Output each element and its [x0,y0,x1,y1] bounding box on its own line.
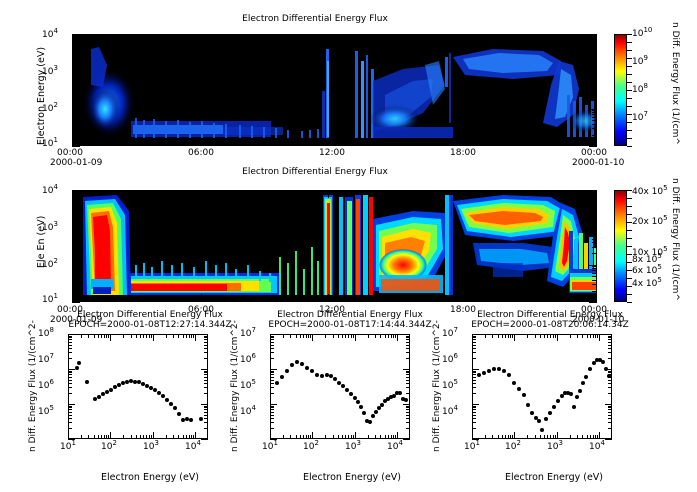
axis-tick [204,336,208,337]
axis-tick [519,34,520,39]
axis-tick [349,141,350,146]
axis-tick [342,435,343,439]
axis-tick [270,371,274,372]
axis-tick [608,339,612,340]
panel1-plot-area[interactable] [72,34,597,146]
axis-tick [627,262,632,263]
axis-tick [406,371,410,372]
axis-tick [353,435,354,439]
axis-tick [345,334,346,338]
axis-tick [505,334,506,338]
axis-tick [270,383,274,384]
axis-tick [592,205,597,206]
axis-tick [68,406,72,407]
axis-tick [72,114,77,115]
axis-tick [472,377,476,378]
axis-tick [72,73,77,74]
axis-tick [403,334,410,335]
axis-tick [283,334,284,338]
axis-tick [592,201,597,202]
axis-tick [328,138,329,146]
axis-tick [550,334,551,338]
axis-tick [81,435,82,439]
axis-tick [204,377,208,378]
axis-tick [472,432,473,439]
axis-tick [393,334,394,338]
axis-tick [541,34,542,39]
axis-tick [498,141,499,146]
panel4-plot-area[interactable] [270,334,410,439]
axis-tick [338,435,339,439]
axis-tick [592,120,597,121]
axis-tick [434,34,435,39]
axis-tick [68,348,72,349]
axis-tick [195,432,196,439]
axis-tick [68,334,69,341]
axis-tick [368,334,369,338]
axis-tick [592,128,597,129]
axis-tick [116,34,117,39]
axis-tick [589,146,597,147]
panel4-xtick-3: 104 [387,442,403,452]
axis-tick [68,404,75,405]
axis-tick [270,334,277,335]
axis-tick [541,141,542,146]
axis-tick [541,297,542,302]
axis-tick [140,435,141,439]
axis-tick [508,435,509,439]
axis-tick [434,297,435,302]
axis-tick [608,407,612,408]
axis-tick [153,432,154,439]
axis-tick [193,435,194,439]
axis-tick [406,407,410,408]
axis-tick [72,270,77,271]
axis-tick [592,247,597,248]
axis-tick [270,439,277,440]
axis-tick [627,214,632,215]
panel1-cbtick-3: 107 [632,113,648,123]
axis-tick [68,422,72,423]
axis-tick [472,439,479,440]
axis-tick [592,198,597,199]
panel2-cbtick-0: 40x 105 [632,187,668,197]
axis-tick [535,435,536,439]
axis-tick [485,334,486,338]
axis-tick [592,236,597,237]
axis-tick [627,278,632,279]
axis-tick [592,91,597,92]
panel5-subtitle: EPOCH=2000-01-08T20:06:14.34Z [440,320,660,330]
axis-tick [333,334,334,338]
panel3-xtick-2: 103 [143,442,159,452]
axis-tick [204,372,208,373]
axis-tick [589,71,597,72]
axis-tick [68,372,72,373]
axis-tick [72,227,80,228]
axis-tick [472,334,479,335]
axis-tick [81,334,82,338]
axis-tick [173,334,174,338]
axis-tick [270,334,271,341]
axis-tick [72,75,77,76]
axis-tick [73,34,74,42]
axis-tick [270,377,274,378]
panel5-ytick-1: 106 [442,355,458,365]
axis-tick [413,190,414,195]
axis-tick [72,110,77,111]
axis-tick [158,141,159,146]
axis-tick [307,297,308,302]
axis-tick [204,345,208,346]
axis-tick [72,120,77,121]
panel5-xlabel: Electron Energy (eV) [474,472,634,483]
axis-tick [68,358,72,359]
axis-tick [395,334,396,338]
axis-tick [477,34,478,39]
axis-tick [406,409,410,410]
axis-tick [627,190,632,191]
axis-tick [201,404,208,405]
axis-tick [72,45,77,46]
axis-tick [555,334,556,338]
axis-tick [403,369,410,370]
axis-tick [300,334,301,338]
axis-tick [592,36,597,37]
axis-tick [325,334,326,338]
axis-tick [204,371,208,372]
axis-tick [286,190,287,195]
axis-tick [472,380,476,381]
axis-tick [270,372,274,373]
panel5-points [473,335,611,438]
axis-tick [472,393,476,394]
axis-tick [587,334,588,338]
axis-tick [472,428,476,429]
axis-tick [397,334,398,341]
axis-tick [204,358,208,359]
axis-tick [371,297,372,302]
axis-tick [592,273,597,274]
axis-tick [325,435,326,439]
axis-tick [204,393,208,394]
axis-tick [222,190,223,195]
axis-tick [131,435,132,439]
axis-tick [406,374,410,375]
axis-tick [498,435,499,439]
axis-tick [375,334,376,338]
axis-tick [608,409,612,410]
axis-tick [72,239,77,240]
panel1-ytick-0: 104 [42,30,58,40]
axis-tick [72,280,77,281]
axis-tick [502,334,503,338]
axis-tick [608,387,612,388]
axis-tick [348,334,349,338]
axis-tick [472,409,476,410]
axis-tick [73,294,74,302]
panel3-ytick-0: 108 [38,329,54,339]
axis-tick [627,66,632,67]
axis-tick [540,435,541,439]
panel3-xlabel: Electron Energy (eV) [70,472,230,483]
axis-tick [307,34,308,39]
axis-tick [406,406,410,407]
axis-tick [608,377,612,378]
axis-tick [310,435,311,439]
axis-tick [406,336,410,337]
axis-tick [406,339,410,340]
axis-tick [627,302,632,303]
axis-tick [204,380,208,381]
axis-tick [583,138,584,146]
axis-tick [555,435,556,439]
axis-tick [498,190,499,195]
axis-tick [592,54,597,55]
axis-tick [270,348,274,349]
axis-tick [312,334,313,341]
axis-tick [592,45,597,46]
axis-tick [338,334,339,338]
axis-tick [595,334,596,338]
panel4-xtick-1: 102 [303,442,319,452]
axis-tick [519,297,520,302]
axis-tick [72,135,77,136]
axis-tick [627,106,632,107]
axis-tick [385,435,386,439]
axis-tick [582,334,583,338]
axis-tick [514,432,515,439]
axis-tick [290,435,291,439]
axis-tick [189,334,190,338]
axis-tick [183,334,184,338]
axis-tick [477,297,478,302]
axis-tick [477,190,478,195]
panel2-plot-area[interactable] [72,190,597,302]
axis-tick [456,294,457,302]
axis-tick [204,352,208,353]
axis-tick [380,435,381,439]
axis-tick [131,334,132,338]
panel1-colorbar[interactable] [614,34,627,146]
axis-tick [544,435,545,439]
axis-tick [472,418,476,419]
axis-tick [189,435,190,439]
axis-tick [270,406,274,407]
axis-tick [589,34,597,35]
axis-tick [204,339,208,340]
panel1-xtick-2: 12:00 [319,148,345,158]
axis-tick [108,435,109,439]
axis-tick [627,254,632,255]
axis-tick [201,138,202,146]
panel5-ylabel: n Diff. Energy Flux (1/(cm^2- [432,320,442,452]
axis-tick [94,141,95,146]
axis-tick [88,334,89,338]
axis-tick [519,141,520,146]
axis-tick [68,418,72,419]
axis-tick [627,230,632,231]
axis-tick [270,418,274,419]
axis-tick [608,406,612,407]
panel5-ytick-2: 105 [442,381,458,391]
axis-tick [355,432,356,439]
axis-tick [283,435,284,439]
axis-tick [608,380,612,381]
axis-tick [527,334,528,338]
panel1-ylabel: Electron Energy (eV) [36,47,47,145]
axis-tick [608,345,612,346]
axis-tick [406,415,410,416]
axis-tick [608,415,612,416]
axis-tick [472,374,476,375]
axis-tick [101,334,102,338]
axis-tick [608,418,612,419]
axis-tick [472,371,476,372]
axis-tick [72,253,77,254]
axis-tick [94,334,95,338]
axis-tick [123,435,124,439]
axis-tick [608,371,612,372]
axis-tick [592,49,597,50]
axis-tick [328,190,329,198]
axis-tick [243,297,244,302]
axis-tick [406,428,410,429]
axis-tick [270,387,274,388]
axis-tick [592,253,597,254]
axis-tick [204,428,208,429]
axis-tick [94,190,95,195]
axis-tick [562,141,563,146]
axis-tick [375,435,376,439]
axis-tick [68,369,75,370]
axis-tick [388,334,389,338]
axis-tick [608,358,612,359]
axis-tick [627,82,632,83]
axis-tick [472,369,479,370]
axis-tick [472,412,476,413]
axis-tick [222,141,223,146]
axis-tick [72,117,77,118]
axis-tick [191,435,192,439]
axis-tick [597,334,598,338]
axis-tick [72,83,77,84]
panel4-xlabel: Electron Energy (eV) [272,472,432,483]
axis-tick [270,407,274,408]
axis-tick [116,190,117,195]
axis-tick [342,334,343,338]
axis-tick [413,141,414,146]
axis-tick [406,352,410,353]
panel2-colorbar[interactable] [614,190,627,302]
axis-tick [72,273,77,274]
axis-tick [472,348,476,349]
panel2-ytick-1: 103 [42,223,58,233]
axis-tick [592,75,597,76]
axis-tick [472,406,476,407]
axis-tick [110,334,111,341]
axis-tick [592,135,597,136]
axis-tick [349,34,350,39]
axis-tick [392,34,393,39]
axis-tick [204,383,208,384]
axis-tick [286,34,287,39]
axis-tick [158,297,159,302]
axis-tick [307,141,308,146]
axis-tick [72,265,80,266]
panel1-title: Electron Differential Energy Flux [150,14,480,24]
axis-tick [73,190,74,198]
axis-tick [406,337,410,338]
panel3-plot-area[interactable] [68,334,208,439]
panel4-ylabel: n Diff. Energy Flux (1/(cm^2- [230,320,240,452]
axis-tick [589,190,597,191]
axis-tick [608,348,612,349]
axis-tick [173,435,174,439]
panel5-plot-area[interactable] [472,334,612,439]
axis-tick [608,393,612,394]
axis-tick [201,190,202,198]
axis-tick [608,422,612,423]
panel4-title: Electron Differential Energy Flux [250,310,450,320]
axis-tick [627,146,632,147]
axis-tick [492,435,493,439]
panel1-xtick-0: 00:00 [57,148,83,158]
axis-tick [72,266,77,267]
axis-tick [562,190,563,195]
axis-tick [303,435,304,439]
axis-tick [392,141,393,146]
axis-tick [270,393,274,394]
axis-tick [201,369,208,370]
axis-tick [592,194,597,195]
axis-tick [605,439,612,440]
panel5-xtick-1: 102 [505,442,521,452]
axis-tick [306,435,307,439]
axis-tick [605,404,612,405]
panel3-ylabel: n Diff. Energy Flux (1/(cm^2- [28,320,38,452]
axis-tick [485,435,486,439]
axis-tick [68,352,72,353]
axis-tick [595,435,596,439]
axis-tick [535,334,536,338]
axis-tick [403,404,410,405]
axis-tick [110,432,111,439]
axis-tick [406,393,410,394]
axis-tick [183,435,184,439]
axis-tick [310,334,311,338]
axis-tick [204,348,208,349]
axis-tick [72,80,77,81]
axis-tick [72,124,77,125]
panel1-date-right: 2000-01-10 [572,158,624,168]
axis-tick [204,374,208,375]
axis-tick [270,374,274,375]
axis-tick [68,383,72,384]
axis-tick [392,297,393,302]
axis-tick [204,422,208,423]
axis-tick [137,190,138,195]
axis-tick [590,334,591,338]
axis-tick [146,435,147,439]
axis-tick [68,342,72,343]
axis-tick [72,112,77,113]
axis-tick [627,294,632,295]
axis-tick [553,435,554,439]
axis-tick [385,334,386,338]
axis-tick [406,377,410,378]
axis-tick [308,334,309,338]
